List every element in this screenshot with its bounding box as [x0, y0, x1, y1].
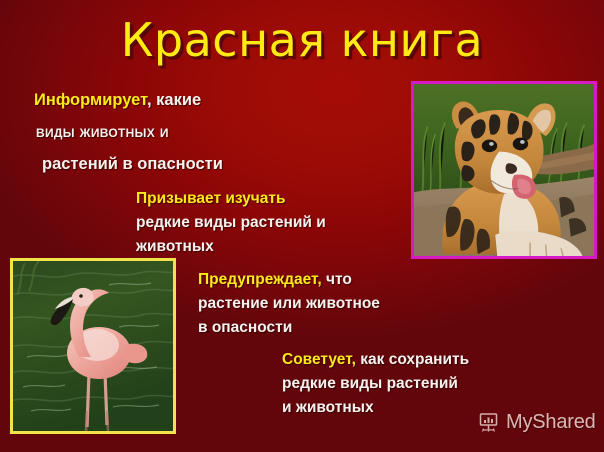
warn-line-1-tail: что — [322, 271, 352, 288]
warn-line-2: растение или животное — [198, 292, 380, 316]
advise-line-1-tail: как сохранить — [356, 351, 469, 368]
flamingo-photo — [10, 258, 176, 434]
text-block-study: Призывает изучать редкие виды растений и… — [136, 187, 326, 259]
tiger-cub-photo-inner — [414, 84, 594, 256]
advise-keyword: Советует, — [282, 351, 356, 368]
page-title: Красная книга — [0, 14, 604, 66]
warn-line-3: в опасности — [198, 316, 380, 340]
advise-line-1: Советует, как сохранить — [282, 348, 469, 372]
advise-line-2: редкие виды растений — [282, 372, 469, 396]
advise-line-3: и животных — [282, 396, 469, 420]
warn-keyword: Предупреждает, — [198, 271, 322, 288]
flipchart-icon — [477, 410, 501, 434]
study-line-1: Призывает изучать — [136, 187, 326, 211]
study-keyword: Призывает изучать — [136, 190, 286, 207]
flamingo-illustration — [13, 261, 173, 431]
text-block-advise: Советует, как сохранить редкие виды раст… — [282, 348, 469, 420]
inform-line-3: растений в опасности — [28, 148, 223, 180]
tiger-cub-illustration — [414, 84, 594, 256]
flamingo-photo-inner — [13, 261, 173, 431]
inform-line-1: Информирует, какие — [28, 84, 223, 116]
study-line-2: редкие виды растений и — [136, 211, 326, 235]
myshared-label: MyShared — [506, 411, 596, 434]
text-block-warn: Предупреждает, что растение или животное… — [198, 268, 380, 340]
inform-keyword: Информирует — [34, 91, 147, 109]
warn-line-1: Предупреждает, что — [198, 268, 380, 292]
inform-line-1-tail: , какие — [147, 91, 201, 109]
tiger-cub-photo — [411, 81, 597, 259]
text-block-inform: Информирует, какие виды животных и расте… — [28, 84, 223, 180]
study-line-3: животных — [136, 235, 326, 259]
myshared-watermark: MyShared — [477, 410, 596, 434]
slide-canvas: Красная книга Информирует, какие виды жи… — [0, 0, 604, 452]
inform-line-2: виды животных и — [28, 116, 223, 148]
